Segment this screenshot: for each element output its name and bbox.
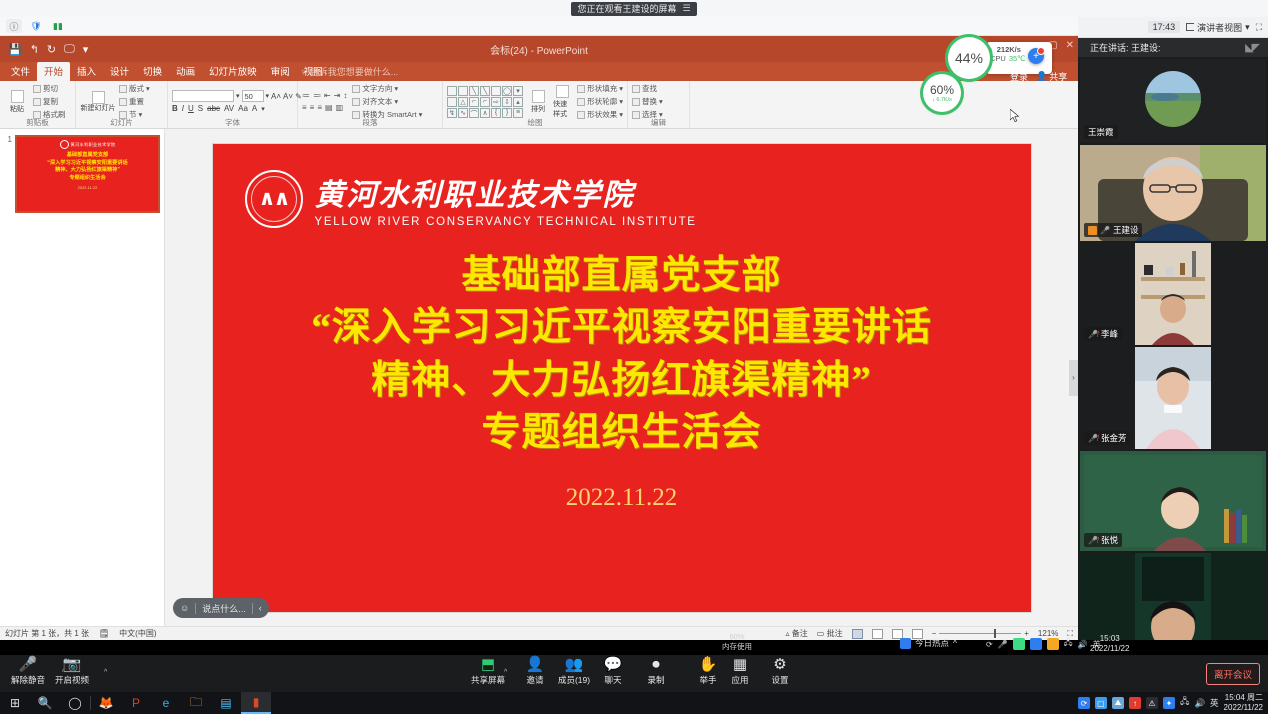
shape-connector-icon[interactable]: ⌐ bbox=[480, 97, 490, 107]
normal-view-icon[interactable] bbox=[852, 629, 863, 639]
editing-area: 1 黄河水利职业技术学院 基础部直属党支部 “深入学习习近平视察安阳重要讲话 精… bbox=[0, 129, 1078, 626]
display-icon[interactable]: ▢ bbox=[1095, 697, 1107, 709]
ribbon-group-slides: 新建幻灯片 版式▾ 重置 节▾ 幻灯片 bbox=[76, 81, 168, 128]
powerpoint-icon[interactable]: P bbox=[121, 692, 151, 714]
replace-button[interactable]: 替换▾ bbox=[632, 96, 663, 107]
new-slide-button[interactable]: 新建幻灯片 bbox=[80, 91, 116, 113]
paste-button[interactable]: 粘贴 bbox=[4, 90, 30, 114]
network-warning-icon[interactable]: ⚠ bbox=[1146, 697, 1158, 709]
shape-freeform-icon[interactable]: ↯ bbox=[447, 108, 457, 118]
ribbon: 粘贴 剪切 复制 格式刷 剪贴板 新建幻灯片 版式▾ 重置 bbox=[0, 81, 1078, 129]
meeting-toolbar: 🎤 解除静音 ^ 📷 开启视频 ^ ⬒ 共享屏幕 ^ 👤 邀请 👥 成员(19)… bbox=[0, 655, 1268, 692]
mic-icon[interactable]: 🎤 bbox=[998, 640, 1008, 649]
video-feed bbox=[1080, 553, 1266, 640]
thumbnail-logo: 黄河水利职业技术学院 bbox=[60, 140, 116, 149]
cpu-usage-ring[interactable]: 44% bbox=[948, 37, 990, 79]
network-speed: 212K/s bbox=[997, 45, 1021, 54]
shape-arrow-icon[interactable]: ╲ bbox=[480, 86, 490, 96]
memory-percent: 60% bbox=[722, 632, 752, 642]
participant-name: 🎤 王建设 bbox=[1084, 223, 1142, 237]
participant-name: 🎤̸ 张悦 bbox=[1084, 533, 1122, 547]
slide-title-block[interactable]: 基础部直属党支部 “深入学习习近平视察安阳重要讲话 精神、大力弘扬红旗渠精神” … bbox=[213, 250, 1031, 461]
sync-icon[interactable]: ⟳ bbox=[986, 640, 993, 649]
screen-share-banner: 您正在观看王建设的屏幕 ☰ bbox=[0, 0, 1268, 17]
seal-icon bbox=[60, 140, 69, 149]
thumbnail-title-line: 基础部直属党支部 bbox=[47, 152, 127, 160]
shape-outline-icon bbox=[577, 98, 585, 106]
cpu-temp: 35℃ bbox=[1009, 54, 1026, 63]
meeting-window-header: 17:43 演讲者视图 ▾ ⛶ bbox=[1078, 17, 1268, 38]
weather-icon[interactable] bbox=[1013, 638, 1025, 650]
language-label[interactable]: 中文(中国) bbox=[119, 628, 156, 639]
chevron-down-icon[interactable]: ▾ bbox=[659, 97, 663, 106]
chevron-down-icon[interactable]: ▾ bbox=[394, 97, 398, 106]
shape-fill-button[interactable]: 形状填充▾ bbox=[577, 83, 623, 94]
share-button[interactable]: 👤 共享 bbox=[1036, 70, 1067, 83]
group-label-paragraph: 段落 bbox=[298, 117, 442, 128]
mouse-cursor bbox=[1010, 109, 1019, 122]
mic-muted-icon: 🎤̸ bbox=[1088, 536, 1098, 545]
signal-bars-icon[interactable]: ▮▮ bbox=[50, 19, 66, 33]
shapes-list-icon[interactable]: ≡ bbox=[513, 108, 523, 118]
fullscreen-icon[interactable]: ⛶ bbox=[1256, 22, 1262, 33]
ribbon-group-font: ▾ 50 ▾ A˄ A˅ ✎ B I U S abc AV Aa A ▾ bbox=[168, 81, 298, 128]
lightbulb-icon: ♀ bbox=[300, 67, 307, 77]
tab-transitions[interactable]: 切换 bbox=[136, 62, 169, 81]
tab-animations[interactable]: 动画 bbox=[169, 62, 202, 81]
tab-insert[interactable]: 插入 bbox=[70, 62, 103, 81]
copy-button[interactable]: 复制 bbox=[33, 96, 66, 107]
close-icon[interactable]: ✕ bbox=[1066, 40, 1074, 51]
line-spacing-icon[interactable]: ↕ bbox=[343, 91, 347, 100]
strikethrough-button[interactable]: abc bbox=[207, 104, 220, 113]
increase-font-icon[interactable]: A˄ bbox=[271, 92, 281, 101]
slide-sorter-icon[interactable] bbox=[872, 629, 883, 639]
participant-name: 🎤̸ 李峰 bbox=[1084, 327, 1122, 341]
tab-file[interactable]: 文件 bbox=[4, 62, 37, 81]
tab-design[interactable]: 设计 bbox=[103, 62, 136, 81]
speaker-view-icon bbox=[1186, 23, 1194, 31]
participant-rail[interactable]: 正在讲话: 王建设: ◣◤ 王崇霞 🎤 王建设 bbox=[1078, 38, 1268, 640]
numbering-icon[interactable]: ≕ bbox=[313, 91, 321, 100]
chat-input-placeholder[interactable]: 说点什么... bbox=[202, 602, 246, 615]
shapes-expand-icon[interactable]: ▴ bbox=[513, 97, 523, 107]
shape-oval-icon[interactable]: ◯ bbox=[502, 86, 512, 96]
info-icon[interactable]: ⓘ bbox=[6, 19, 22, 33]
ime-indicator[interactable]: 英 bbox=[1210, 697, 1219, 709]
invite-icon: 👤 bbox=[526, 657, 545, 673]
institute-logo: ∧∧ 黄河水利职业技术学院 YELLOW RIVER CONSERVANCY T… bbox=[245, 170, 697, 228]
slide-thumbnail-pane[interactable]: 1 黄河水利职业技术学院 基础部直属党支部 “深入学习习近平视察安阳重要讲话 精… bbox=[0, 129, 165, 626]
floating-chat-bar[interactable]: ☺ 说点什么... ‹ bbox=[173, 598, 269, 618]
chevron-down-icon[interactable]: ▾ bbox=[619, 97, 623, 106]
memory-label: 内存使用 bbox=[722, 642, 752, 652]
chevron-down-icon[interactable]: ▾ bbox=[394, 84, 398, 93]
download-arrow-icon: ↓ bbox=[990, 45, 994, 54]
avatar bbox=[1145, 71, 1201, 127]
justify-icon[interactable]: ▤ bbox=[325, 103, 333, 112]
replace-icon bbox=[632, 98, 640, 106]
slide-title-line-1: 基础部直属党支部 bbox=[213, 250, 1031, 303]
shape-picture-icon[interactable] bbox=[458, 86, 468, 96]
collapse-icon[interactable]: ‹ bbox=[259, 603, 262, 613]
thumbnail-title-line: “深入学习习近平视察安阳重要讲话 bbox=[47, 160, 127, 168]
shadow-button[interactable]: S bbox=[198, 104, 203, 113]
memory-usage-widget[interactable]: 60% 内存使用 bbox=[722, 632, 752, 652]
ribbon-group-editing: 查找 替换▾ 选择▾ 编辑 bbox=[628, 81, 690, 128]
desktop-clock-date: 2022/11/22 bbox=[1090, 644, 1129, 654]
weixin-icon[interactable]: ▤ bbox=[211, 692, 241, 714]
chevron-up-icon[interactable]: ^ bbox=[953, 638, 957, 648]
ribbon-tabs: 文件 开始 插入 设计 切换 动画 幻灯片放映 审阅 视图 ♀ 告诉我您想要做什… bbox=[0, 62, 1078, 81]
powerpoint-window: 💾 ↰ ↻ 🖵 ▾ 会标(24) - PowerPoint — ▢ ✕ 文件 开… bbox=[0, 36, 1078, 640]
change-case-button[interactable]: Aa bbox=[238, 104, 248, 113]
shape-scribble-icon[interactable]: ∿ bbox=[458, 108, 468, 118]
divider bbox=[252, 603, 253, 614]
screen-share-pill[interactable]: 您正在观看王建设的屏幕 ☰ bbox=[571, 2, 696, 16]
thumbnail-title-line: 专题组织生活会 bbox=[47, 175, 127, 183]
divider bbox=[195, 603, 196, 614]
participant-name: 王崇霞 bbox=[1084, 125, 1118, 139]
seal-icon: ∧∧ bbox=[245, 170, 303, 228]
group-label-slides: 幻灯片 bbox=[76, 117, 167, 128]
quick-styles-button[interactable]: 快速样式 bbox=[553, 85, 571, 119]
browser-extension-strip: ⓘ 🛡 ▮▮ bbox=[0, 17, 1078, 36]
perf-add-icon[interactable]: + bbox=[1028, 48, 1044, 64]
participant-tile[interactable] bbox=[1080, 553, 1266, 640]
sync-icon[interactable]: ⟳ bbox=[1078, 697, 1090, 709]
cpu-label: CPU bbox=[990, 54, 1006, 63]
shape-arrow-right-icon[interactable]: ⇨ bbox=[491, 97, 501, 107]
apps-icon: ▦ bbox=[733, 657, 747, 673]
slide-thumbnail-1[interactable]: 黄河水利职业技术学院 基础部直属党支部 “深入学习习近平视察安阳重要讲话 精神、… bbox=[15, 135, 160, 213]
share-screen-icon: ⬒ bbox=[481, 657, 495, 673]
network-icon[interactable]: 🖧 bbox=[1180, 696, 1189, 710]
gear-icon: ⚙ bbox=[773, 657, 786, 673]
logo-english-name: YELLOW RIVER CONSERVANCY TECHNICAL INSTI… bbox=[315, 216, 697, 228]
shape-rounded-rect-icon[interactable] bbox=[447, 97, 457, 107]
ribbon-group-drawing: ╲╲◯▾ △⌐⌐⇨⇩▴ ↯∿⌒∧{}≡ 排列 快速样式 形状填充▾ 形状轮廓▾ … bbox=[443, 81, 628, 128]
participants-icon: 👥 bbox=[565, 657, 584, 673]
window-title: 会标(24) - PowerPoint bbox=[0, 42, 1078, 57]
arrange-button[interactable]: 排列 bbox=[529, 90, 547, 114]
windows-taskbar: ⊞ 🔍 ◯ 🦊 P e 🗀 ▤ ▮ ⟳ ▢ ⛰ ↑ ⚠ ✦ 🖧 🔊 英 15:0… bbox=[0, 692, 1268, 714]
participant-tile[interactable]: 🎤̸ 李峰 bbox=[1080, 243, 1266, 345]
font-name-input[interactable] bbox=[172, 90, 234, 102]
bold-button[interactable]: B bbox=[172, 104, 178, 113]
tell-me-label: 告诉我您想要做什么... bbox=[310, 65, 399, 78]
update-icon[interactable]: ↑ bbox=[1129, 697, 1141, 709]
video-options-caret-icon[interactable]: ^ bbox=[104, 669, 107, 676]
cloud-icon[interactable]: ✦ bbox=[1163, 697, 1175, 709]
mic-muted-icon: 🎤̸ bbox=[1088, 330, 1098, 339]
shape-outline-button[interactable]: 形状轮廓▾ bbox=[577, 96, 623, 107]
thumbnail-title-line: 精神、大力弘扬红旗渠精神” bbox=[47, 167, 127, 175]
shape-fill-icon bbox=[577, 85, 585, 93]
view-mode-selector[interactable]: 演讲者视图 ▾ bbox=[1186, 21, 1250, 34]
sign-in-button[interactable]: 登录 bbox=[1010, 70, 1028, 83]
quick-styles-icon bbox=[556, 85, 569, 98]
comments-button[interactable]: ▭ 批注 bbox=[817, 628, 843, 639]
audio-wave-icon: ◣◤ bbox=[1245, 41, 1258, 54]
system-tray: ⟳ ▢ ⛰ ↑ ⚠ ✦ 🖧 🔊 英 15:04 周二 2022/11/22 bbox=[1078, 693, 1268, 713]
chevron-down-icon[interactable]: ▾ bbox=[236, 92, 240, 100]
participant-tile[interactable]: 🎤̸ 张金芳 bbox=[1080, 347, 1266, 449]
news-icon bbox=[900, 638, 911, 649]
folder-icon[interactable]: 🗀 bbox=[181, 692, 211, 714]
next-slide-arrow[interactable]: › bbox=[1069, 360, 1078, 396]
group-label-editing: 编辑 bbox=[628, 117, 689, 128]
memory-usage-ring[interactable]: 60% ↓ 6.7K/s bbox=[923, 74, 961, 112]
thumbnail-date: 2022.11.22 bbox=[78, 185, 98, 190]
group-label-font: 字体 bbox=[168, 117, 297, 128]
slide-count-label: 幻灯片 第 1 张，共 1 张 bbox=[5, 628, 89, 639]
decrease-font-icon[interactable]: A˅ bbox=[283, 92, 293, 101]
align-text-button[interactable]: 对齐文本▾ bbox=[352, 96, 422, 107]
volume-icon[interactable]: 🔊 bbox=[1194, 698, 1205, 709]
chevron-down-icon[interactable]: ▾ bbox=[261, 105, 265, 113]
shapes-gallery[interactable]: ╲╲◯▾ △⌐⌐⇨⇩▴ ↯∿⌒∧{}≡ bbox=[447, 86, 523, 118]
slide-canvas-stage[interactable]: ∧∧ 黄河水利职业技术学院 YELLOW RIVER CONSERVANCY T… bbox=[165, 129, 1078, 626]
tab-home[interactable]: 开始 bbox=[37, 62, 70, 81]
notes-button[interactable]: ▵ 备注 bbox=[786, 628, 808, 639]
host-badge-icon bbox=[1088, 226, 1097, 235]
increase-indent-icon[interactable]: ⇥ bbox=[334, 91, 341, 100]
cut-button[interactable]: 剪切 bbox=[33, 83, 66, 94]
mic-icon: 🎤 bbox=[1100, 226, 1110, 235]
chevron-down-icon[interactable]: ▾ bbox=[619, 84, 623, 93]
active-speaker-label: 正在讲话: 王建设: ◣◤ bbox=[1078, 38, 1268, 57]
taskbar-date: 2022/11/22 bbox=[1224, 703, 1263, 713]
underline-button[interactable]: U bbox=[188, 104, 194, 113]
layout-icon bbox=[119, 85, 127, 93]
bullets-icon[interactable]: ≔ bbox=[302, 91, 310, 100]
windows-start-icon[interactable]: ⊞ bbox=[0, 692, 30, 714]
tray-icons-row: ⟳ 🎤 🖧 🔊 英 bbox=[986, 637, 1101, 651]
align-left-icon[interactable]: ≡ bbox=[302, 103, 307, 112]
decrease-indent-icon[interactable]: ⇤ bbox=[324, 91, 331, 100]
tab-slideshow[interactable]: 幻灯片放映 bbox=[202, 62, 264, 81]
ribbon-group-paragraph: ≔ ≕ ⇤ ⇥ ↕ ≡ ≡ ≡ ▤ ▥ 文字方向▾ bbox=[298, 81, 443, 128]
tell-me-search[interactable]: ♀ 告诉我您想要做什么... bbox=[300, 65, 398, 78]
copy-icon bbox=[33, 98, 41, 106]
italic-button[interactable]: I bbox=[182, 104, 184, 113]
shape-textbox-icon[interactable] bbox=[447, 86, 457, 96]
mic-muted-icon: 🎤̸ bbox=[1088, 434, 1098, 443]
chevron-down-icon[interactable]: ▾ bbox=[146, 84, 150, 93]
align-right-icon[interactable]: ≡ bbox=[317, 103, 322, 112]
slide-title-line-2: “深入学习习近平视察安阳重要讲话 bbox=[213, 302, 1031, 355]
slide-title-line-3: 精神、大力弘扬红旗渠精神” bbox=[213, 355, 1031, 408]
cloud-icon[interactable] bbox=[1030, 638, 1042, 650]
text-direction-button[interactable]: 文字方向▾ bbox=[352, 83, 422, 94]
meeting-clock: 17:43 bbox=[1148, 21, 1181, 33]
text-direction-icon bbox=[352, 85, 360, 93]
slide-date: 2022.11.22 bbox=[566, 484, 678, 512]
desktop-clock-time: 15:03 bbox=[1090, 634, 1129, 644]
font-size-input[interactable]: 50 bbox=[242, 90, 264, 102]
firefox-icon[interactable]: 🦊 bbox=[91, 692, 121, 714]
shape-arc-icon[interactable]: ∧ bbox=[480, 108, 490, 118]
hamburger-icon[interactable]: ☰ bbox=[682, 3, 690, 14]
powerpoint-titlebar: 💾 ↰ ↻ 🖵 ▾ 会标(24) - PowerPoint — ▢ ✕ bbox=[0, 36, 1078, 62]
shapes-more-icon[interactable]: ▾ bbox=[513, 86, 523, 96]
zoom-track[interactable] bbox=[939, 633, 1021, 634]
shield-icon[interactable]: 🛡 bbox=[28, 19, 44, 33]
record-icon: ⏺ bbox=[652, 657, 660, 673]
chevron-down-icon[interactable]: ▾ bbox=[266, 92, 270, 100]
leave-meeting-button[interactable]: 离开会议 bbox=[1206, 663, 1260, 685]
search-icon bbox=[632, 85, 640, 93]
volume-icon[interactable]: 🔊 bbox=[1078, 640, 1088, 649]
search-icon[interactable]: 🔍 bbox=[30, 692, 60, 714]
participant-tile[interactable]: 王崇霞 bbox=[1080, 59, 1266, 143]
shape-triangle-icon[interactable]: △ bbox=[458, 97, 468, 107]
reset-icon bbox=[119, 98, 127, 106]
shape-elbow-icon[interactable]: ⌐ bbox=[469, 97, 479, 107]
participant-tile[interactable]: 🎤 王建设 bbox=[1080, 145, 1266, 241]
group-label-drawing: 绘图 bbox=[443, 117, 627, 128]
cpu-usage-value: 44% bbox=[955, 50, 983, 66]
mic-muted-icon: 🎤 bbox=[19, 657, 38, 673]
taskbar-time: 15:04 周二 bbox=[1225, 693, 1263, 703]
shape-brace-right-icon[interactable]: } bbox=[502, 108, 512, 118]
reset-button[interactable]: 重置 bbox=[119, 96, 150, 107]
camera-off-icon: 📷 bbox=[63, 657, 82, 673]
tab-review[interactable]: 审阅 bbox=[264, 62, 297, 81]
shape-curve-icon[interactable]: ⌒ bbox=[469, 108, 479, 118]
scissors-icon bbox=[33, 85, 41, 93]
shape-line-icon[interactable]: ╲ bbox=[469, 86, 479, 96]
taskbar-clock[interactable]: 15:04 周二 2022/11/22 bbox=[1224, 693, 1263, 713]
emoji-icon[interactable]: ☺ bbox=[180, 603, 189, 613]
ribbon-group-clipboard: 粘贴 剪切 复制 格式刷 剪贴板 bbox=[0, 81, 76, 128]
group-label-clipboard: 剪贴板 bbox=[0, 117, 75, 128]
slide-canvas[interactable]: ∧∧ 黄河水利职业技术学院 YELLOW RIVER CONSERVANCY T… bbox=[212, 143, 1032, 613]
align-text-icon bbox=[352, 98, 360, 106]
news-widget[interactable]: 今日热点 ^ bbox=[900, 637, 957, 649]
view-mode-label: 演讲者视图 bbox=[1197, 21, 1242, 34]
start-video-button[interactable]: 📷 开启视频 bbox=[44, 657, 100, 686]
desktop-clock[interactable]: 15:03 2022/11/22 bbox=[1090, 634, 1129, 654]
shape-brace-left-icon[interactable]: { bbox=[491, 108, 501, 118]
task-view-icon[interactable]: ◯ bbox=[60, 692, 90, 714]
columns-icon[interactable]: ▥ bbox=[336, 103, 344, 112]
person-icon: 👤 bbox=[1036, 71, 1047, 82]
screen-share-text: 您正在观看王建设的屏幕 bbox=[577, 2, 676, 15]
new-slide-icon bbox=[92, 91, 105, 104]
accessibility-icon[interactable]: 🗒 bbox=[99, 629, 109, 638]
seal-mark: ∧∧ bbox=[258, 188, 288, 209]
shape-rect-icon[interactable] bbox=[491, 86, 501, 96]
slide-number: 1 bbox=[4, 135, 12, 213]
memory-usage-value: 60% bbox=[930, 83, 954, 97]
chat-icon: 💬 bbox=[604, 657, 623, 673]
update-icon[interactable] bbox=[1047, 638, 1059, 650]
network-icon[interactable]: 🖧 bbox=[1064, 637, 1073, 651]
record-button[interactable]: ⏺ 录制 bbox=[628, 657, 684, 686]
weather-icon[interactable]: ⛰ bbox=[1112, 697, 1124, 709]
logo-chinese-name: 黄河水利职业技术学院 bbox=[315, 170, 697, 214]
chevron-down-icon[interactable]: ▾ bbox=[1245, 22, 1250, 33]
slide-title-line-4: 专题组织生活会 bbox=[213, 407, 1031, 460]
align-center-icon[interactable]: ≡ bbox=[310, 103, 315, 112]
participant-name: 🎤̸ 张金芳 bbox=[1084, 431, 1130, 445]
settings-button[interactable]: ⚙ 设置 bbox=[752, 657, 808, 686]
paste-icon bbox=[11, 90, 24, 103]
participant-tile[interactable]: 🎤̸ 张悦 bbox=[1080, 451, 1266, 551]
arrange-icon bbox=[532, 90, 545, 103]
character-spacing-icon[interactable]: AV bbox=[224, 104, 234, 113]
edge-icon[interactable]: e bbox=[151, 692, 181, 714]
font-color-button[interactable]: A bbox=[252, 104, 257, 113]
shape-arrow-down-icon[interactable]: ⇩ bbox=[502, 97, 512, 107]
zoom-icon[interactable]: ▮ bbox=[241, 692, 271, 714]
find-button[interactable]: 查找 bbox=[632, 83, 663, 94]
thumbnail-logo-text: 黄河水利职业技术学院 bbox=[71, 142, 116, 148]
layout-button[interactable]: 版式▾ bbox=[119, 83, 150, 94]
memory-ring-sub: ↓ 6.7K/s bbox=[932, 97, 952, 103]
